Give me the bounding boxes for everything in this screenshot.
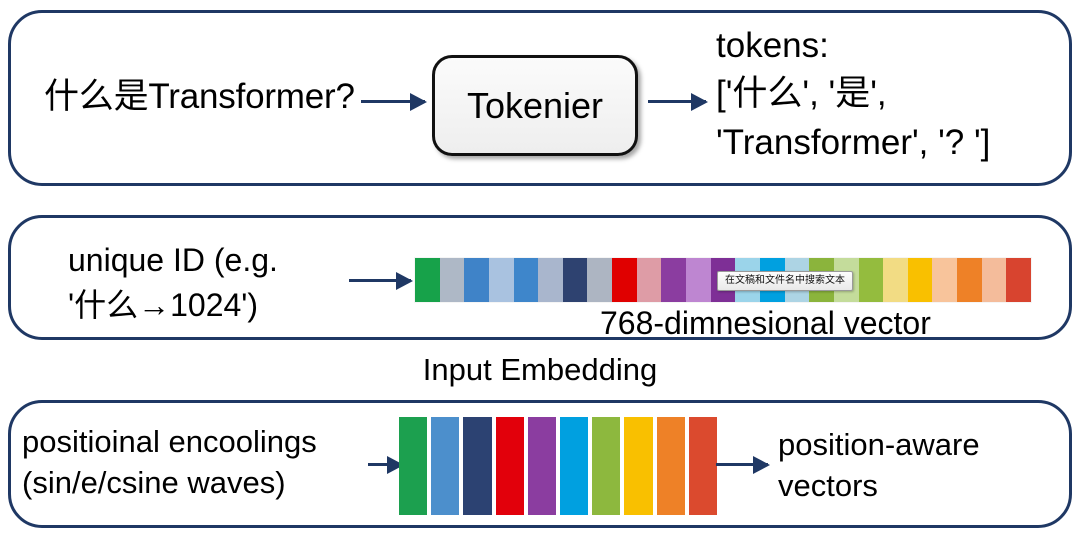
arrow-right-icon-input-to-tokenizer [361, 100, 425, 103]
embedding-segment [883, 258, 908, 302]
embedding-segment [1006, 258, 1031, 302]
embedding-segment [563, 258, 588, 302]
arrow-right-icon-pos-to-bars [368, 463, 402, 466]
input-sentence-text: 什么是Transformer? [44, 76, 424, 117]
arrow-right-icon-id-to-vector [349, 279, 411, 282]
positional-bar [560, 417, 588, 515]
arrow-right-icon-tokenizer-to-tokens [648, 100, 706, 103]
positional-bar [528, 417, 556, 515]
positional-bar [431, 417, 459, 515]
input-embedding-caption: Input Embedding [0, 352, 1080, 389]
search-tooltip: 在文稿和文件名中搜索文本 [717, 271, 853, 291]
embedding-segment [514, 258, 539, 302]
embedding-segment [415, 258, 440, 302]
embedding-segment [612, 258, 637, 302]
embedding-segment [982, 258, 1007, 302]
position-aware-vectors-text: position-aware vectors [778, 425, 1068, 507]
embedding-segment [932, 258, 957, 302]
arrow-right-icon-bars-to-output [716, 463, 768, 466]
embedding-segment [464, 258, 489, 302]
embedding-segment [908, 258, 933, 302]
tokens-output-text: tokens: ['什么', '是', 'Transformer', '? '] [716, 22, 1068, 167]
positional-bar [463, 417, 491, 515]
diagram-canvas: 什么是Transformer? Tokenier tokens: ['什么', … [0, 0, 1080, 536]
tokenizer-label: Tokenier [467, 85, 603, 127]
embedding-segment [440, 258, 465, 302]
positional-encoding-text: positioinal encoolings (sin/e/csine wave… [22, 422, 382, 504]
positional-bar [657, 417, 685, 515]
positional-bar [399, 417, 427, 515]
embedding-segment [661, 258, 686, 302]
vector-dimension-label: 768-dimnesional vector [600, 305, 1040, 343]
embedding-segment [637, 258, 662, 302]
unique-id-text: unique ID (e.g. '什么→1024') [68, 238, 368, 329]
embedding-segment [859, 258, 884, 302]
positional-bar [592, 417, 620, 515]
embedding-segment [686, 258, 711, 302]
embedding-segment [587, 258, 612, 302]
embedding-segment [489, 258, 514, 302]
positional-bar [496, 417, 524, 515]
positional-bar [689, 417, 717, 515]
embedding-segment [957, 258, 982, 302]
embedding-segment [538, 258, 563, 302]
tokenizer-box[interactable]: Tokenier [432, 55, 638, 156]
positional-vector-bars [399, 417, 717, 515]
positional-bar [624, 417, 652, 515]
